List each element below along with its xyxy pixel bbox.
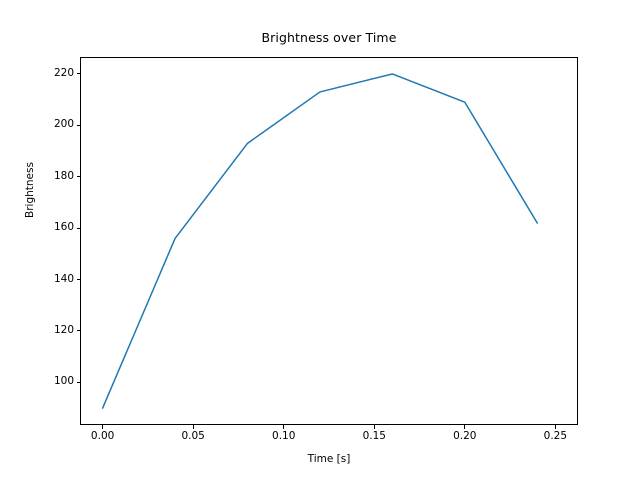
y-tick-label: 100 <box>14 375 74 387</box>
chart-title: Brightness over Time <box>80 30 578 45</box>
x-tick-mark <box>283 425 284 429</box>
x-tick-mark <box>374 425 375 429</box>
x-tick-mark <box>464 425 465 429</box>
y-tick-mark <box>77 279 81 280</box>
x-tick-mark <box>193 425 194 429</box>
y-tick-mark <box>77 125 81 126</box>
x-tick-mark <box>102 425 103 429</box>
x-tick-label: 0.05 <box>163 430 223 442</box>
figure-canvas: Brightness over Time 0.000.050.100.150.2… <box>0 0 640 480</box>
y-tick-mark <box>77 382 81 383</box>
x-tick-label: 0.00 <box>73 430 133 442</box>
y-tick-label: 200 <box>14 118 74 130</box>
x-tick-label: 0.25 <box>525 430 585 442</box>
y-tick-mark <box>77 176 81 177</box>
y-tick-label: 220 <box>14 67 74 79</box>
x-tick-mark <box>555 425 556 429</box>
y-tick-label: 140 <box>14 273 74 285</box>
x-tick-label: 0.10 <box>254 430 314 442</box>
y-tick-mark <box>77 228 81 229</box>
y-tick-label: 160 <box>14 221 74 233</box>
y-tick-label: 180 <box>14 170 74 182</box>
series-brightness-polyline <box>103 74 538 408</box>
x-axis-label: Time [s] <box>80 453 578 465</box>
y-tick-mark <box>77 330 81 331</box>
x-tick-label: 0.15 <box>344 430 404 442</box>
y-axis-label: Brightness <box>24 130 36 250</box>
y-tick-label: 120 <box>14 324 74 336</box>
y-tick-mark <box>77 73 81 74</box>
data-line-series <box>80 57 578 425</box>
x-tick-label: 0.20 <box>435 430 495 442</box>
